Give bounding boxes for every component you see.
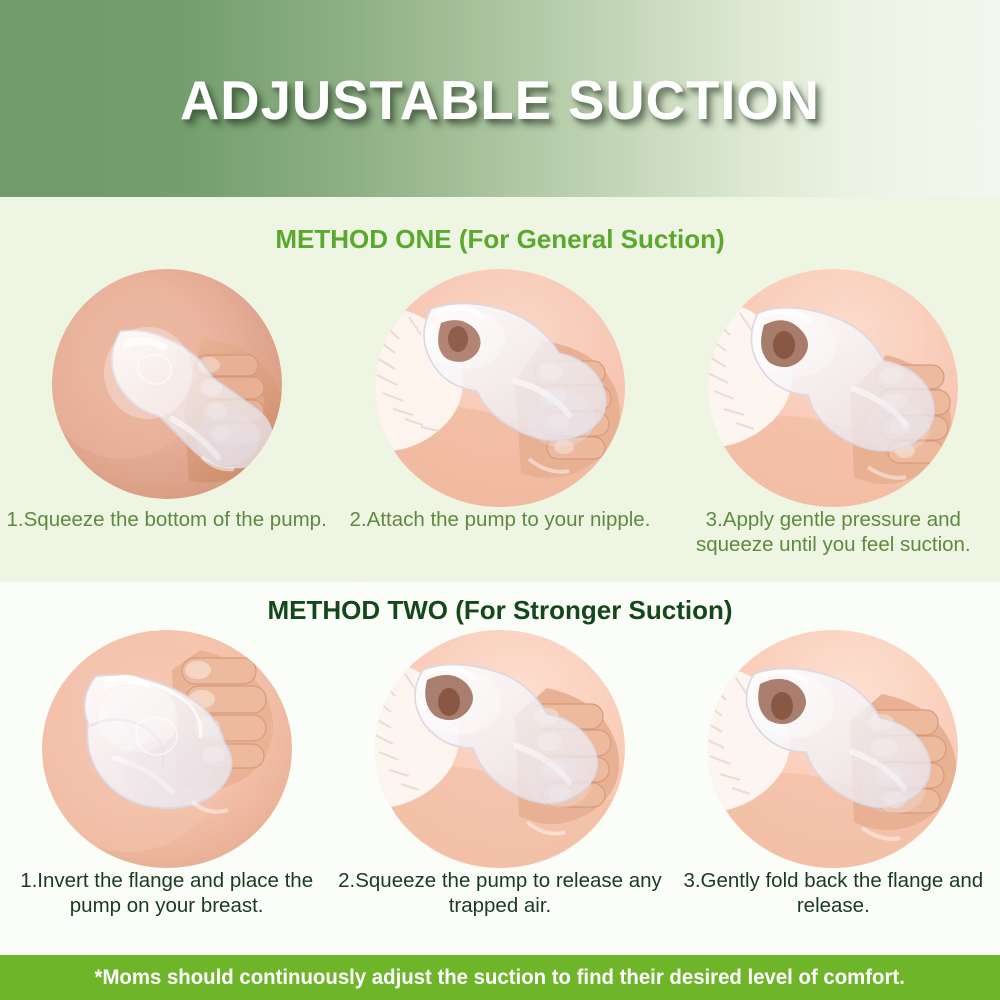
method-one-caption-3: 3.Apply gentle pressure and squeeze unti… [668,507,998,557]
footer-note-text: *Moms should continuously adjust the suc… [95,966,905,990]
method-one-captions: 1.Squeeze the bottom of the pump. 2.Atta… [0,507,1000,557]
folding-back-flange-and-release-photo [708,630,958,868]
footer-note-bar: *Moms should continuously adjust the suc… [0,955,1000,1000]
method-one-heading: METHOD ONE (For General Suction) [0,224,1000,255]
method-one-caption-1: 1.Squeeze the bottom of the pump. [2,507,332,557]
method-two-caption-1: 1.Invert the flange and place the pump o… [2,868,332,918]
header-banner: ADJUSTABLE SUCTION [0,0,1000,197]
method-one-caption-2: 2.Attach the pump to your nipple. [335,507,665,557]
applying-gentle-pressure-to-pump-photo [708,269,958,507]
method-two-photo-row [0,630,1000,868]
method-one-step-3 [667,269,1000,507]
inverted-flange-pump-on-breast-photo [42,630,292,868]
page-title: ADJUSTABLE SUCTION [5,70,995,130]
method-one-step-2 [333,269,666,507]
method-two-heading: METHOD TWO (For Stronger Suction) [0,595,1000,626]
method-two-caption-3: 3.Gently fold back the flange and releas… [668,868,998,918]
hand-squeezing-pump-bottom-photo [52,269,282,499]
method-two-section: METHOD TWO (For Stronger Suction) [0,582,1000,955]
method-one-section: METHOD ONE (For General Suction) [0,197,1000,582]
infographic-page: ADJUSTABLE SUCTION METHOD ONE (For Gener… [0,0,1000,1000]
squeezing-pump-to-release-air-photo [375,630,625,868]
method-two-captions: 1.Invert the flange and place the pump o… [0,868,1000,918]
method-two-step-1 [0,630,333,868]
method-one-step-1 [0,269,333,499]
method-two-step-3 [667,630,1000,868]
method-two-step-2 [333,630,666,868]
method-two-caption-2: 2.Squeeze the pump to release any trappe… [335,868,665,918]
method-one-photo-row [0,269,1000,507]
pump-attached-to-nipple-photo [375,269,625,507]
